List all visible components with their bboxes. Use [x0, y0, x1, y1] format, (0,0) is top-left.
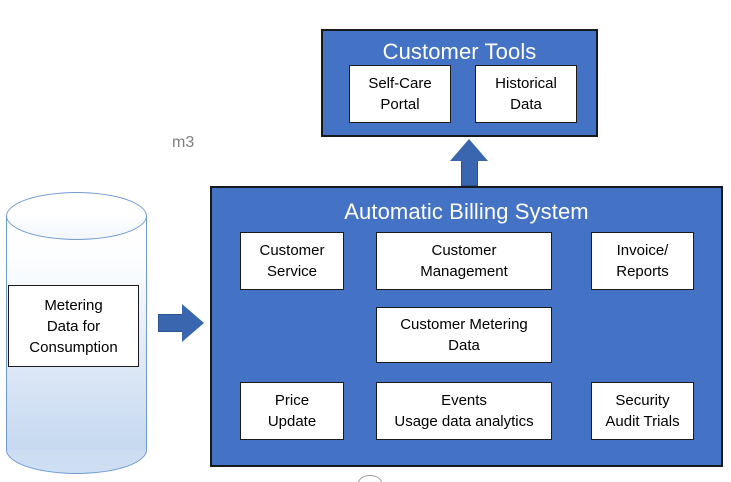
card-customer-service[interactable]: Customer Service: [240, 232, 344, 290]
card-line: Management: [381, 261, 547, 282]
card-line: Portal: [354, 94, 446, 115]
unit-label-m3: m3: [172, 133, 194, 153]
card-line: Audit Trials: [596, 411, 689, 432]
card-metering-data-label: Metering Data for Consumption: [13, 295, 134, 358]
card-line: Data: [381, 335, 547, 356]
card-line: Consumption: [13, 337, 134, 358]
cropped-shape-bottom: [358, 475, 382, 482]
card-self-care-portal[interactable]: Self-Care Portal: [349, 65, 451, 123]
arrow-up-shaft: [461, 159, 478, 186]
card-line: Service: [245, 261, 339, 282]
card-price-update-label: Price Update: [245, 390, 339, 432]
arrow-up-head: [450, 139, 488, 161]
metering-datastore-cylinder[interactable]: Metering Data for Consumption: [6, 192, 147, 475]
card-customer-management-label: Customer Management: [381, 240, 547, 282]
card-line: Events: [381, 390, 547, 411]
card-line: Price: [245, 390, 339, 411]
group-automatic-billing-system[interactable]: Automatic Billing System Customer Servic…: [210, 186, 723, 467]
card-line: Usage data analytics: [381, 411, 547, 432]
arrow-datastore-to-billing: [158, 304, 204, 342]
card-line: Invoice/: [596, 240, 689, 261]
card-self-care-portal-label: Self-Care Portal: [354, 73, 446, 115]
group-customer-tools-title: Customer Tools: [323, 39, 596, 65]
card-events-usage-analytics-label: Events Usage data analytics: [381, 390, 547, 432]
card-customer-metering-data[interactable]: Customer Metering Data: [376, 307, 552, 363]
card-line: Reports: [596, 261, 689, 282]
card-historical-data-label: Historical Data: [480, 73, 572, 115]
card-line: Update: [245, 411, 339, 432]
diagram-canvas: Customer Tools Self-Care Portal Historic…: [0, 0, 731, 482]
card-metering-data-for-consumption[interactable]: Metering Data for Consumption: [8, 285, 139, 367]
card-line: Data: [480, 94, 572, 115]
card-events-usage-analytics[interactable]: Events Usage data analytics: [376, 382, 552, 440]
card-line: Data for: [13, 316, 134, 337]
arrow-billing-to-customer-tools: [450, 139, 488, 186]
card-customer-service-label: Customer Service: [245, 240, 339, 282]
group-automatic-billing-system-title: Automatic Billing System: [212, 199, 721, 225]
card-invoice-reports[interactable]: Invoice/ Reports: [591, 232, 694, 290]
card-line: Metering: [13, 295, 134, 316]
card-security-audit-trials-label: Security Audit Trials: [596, 390, 689, 432]
card-line: Security: [596, 390, 689, 411]
card-line: Self-Care: [354, 73, 446, 94]
card-invoice-reports-label: Invoice/ Reports: [596, 240, 689, 282]
group-customer-tools[interactable]: Customer Tools Self-Care Portal Historic…: [321, 29, 598, 137]
card-customer-metering-data-label: Customer Metering Data: [381, 314, 547, 356]
cylinder-top-ellipse: [6, 192, 147, 240]
card-historical-data[interactable]: Historical Data: [475, 65, 577, 123]
card-price-update[interactable]: Price Update: [240, 382, 344, 440]
card-security-audit-trials[interactable]: Security Audit Trials: [591, 382, 694, 440]
card-line: Customer: [381, 240, 547, 261]
card-customer-management[interactable]: Customer Management: [376, 232, 552, 290]
card-line: Historical: [480, 73, 572, 94]
arrow-right-shaft: [158, 314, 184, 332]
arrow-right-head: [182, 304, 204, 342]
card-line: Customer: [245, 240, 339, 261]
card-line: Customer Metering: [381, 314, 547, 335]
